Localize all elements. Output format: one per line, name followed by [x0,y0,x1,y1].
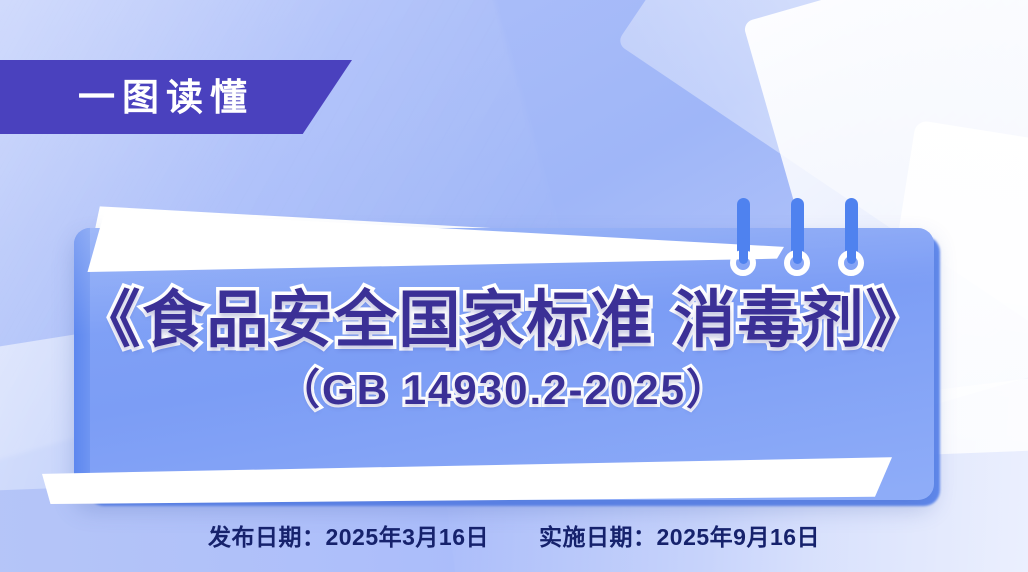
binder-ring-icon-2 [784,198,810,284]
dates-row: 发布日期：2025年3月16日 实施日期：2025年9月16日 [0,518,1028,552]
banner-label: 一图读懂 [78,79,254,116]
ring-bar-front [793,238,802,264]
binder-ring-icon-1 [730,198,756,284]
read-in-one-picture-banner: 一图读懂 [0,60,352,134]
binder-rings-group [728,198,868,284]
standard-title: 《食品安全国家标准 消毒剂》 [74,286,934,355]
ring-bar-front [739,238,748,264]
headline-block: 《食品安全国家标准 消毒剂》 （GB 14930.2-2025） [74,286,934,414]
ring-bar-front [847,238,856,264]
standard-code: （GB 14930.2-2025） [74,367,934,413]
effective-date: 实施日期：2025年9月16日 [539,518,820,552]
publish-date: 发布日期：2025年3月16日 [208,518,489,552]
poster-canvas: 一图读懂 《食品安全国家标准 消毒剂》 （GB 14930.2-2025） [0,0,1028,572]
binder-ring-icon-3 [838,198,864,284]
